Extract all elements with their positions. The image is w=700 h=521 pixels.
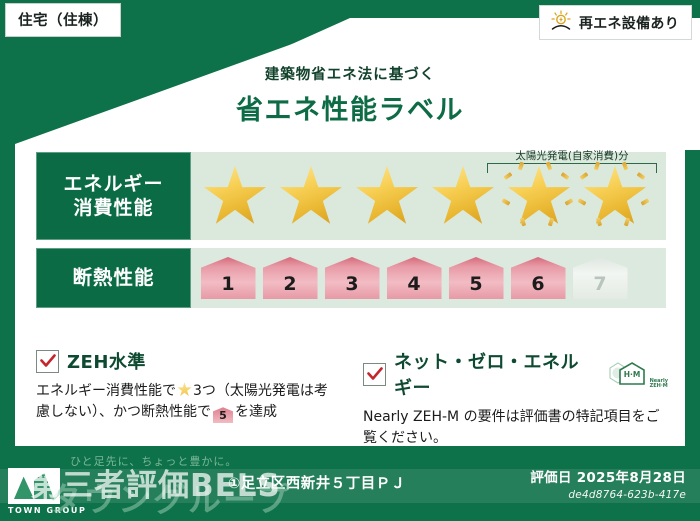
certification-checks: ZEH水準 エネルギー消費性能で3つ（太陽光発電は考慮しない）、かつ断熱性能で5… [36, 348, 668, 450]
insulation-level-inline-badge: 5 [213, 407, 233, 423]
star-icon [354, 165, 420, 228]
star-icon [177, 382, 192, 397]
logo-sub-line2: ZEH·M [650, 383, 668, 389]
insulation-level-badge: 1 [201, 257, 256, 299]
insulation-level-value: 6 [531, 273, 544, 295]
check-mark-icon [36, 350, 59, 373]
house-slot: 5 [445, 257, 507, 299]
house-slot: 2 [259, 257, 321, 299]
star-icon [506, 165, 572, 228]
net-zero-energy-body: Nearly ZEH-M の要件は評価書の特記項目をご覧ください。 [363, 407, 668, 450]
insulation-level-inline-value: 5 [219, 409, 227, 422]
energy-performance-label-line2: 消費性能 [73, 196, 153, 220]
zeh-standard-check: ZEH水準 エネルギー消費性能で3つ（太陽光発電は考慮しない）、かつ断熱性能で5… [36, 348, 341, 450]
label-title-block: 建築物省エネ法に基づく 省エネ性能ラベル [0, 63, 700, 127]
energy-performance-row: エネルギー 消費性能 太陽光発電(自家消費)分 [36, 152, 666, 240]
zeh-standard-body: エネルギー消費性能で3つ（太陽光発電は考慮しない）、かつ断熱性能で5を達成 [36, 381, 341, 424]
insulation-level-value: 7 [593, 273, 606, 295]
nearly-zeh-m-logo-sublabel: Nearly ZEH·M [650, 379, 668, 390]
title-main: 省エネ性能ラベル [0, 88, 700, 127]
star-slot [273, 160, 349, 232]
star-slot [197, 160, 273, 232]
renewable-energy-badge-label: 再エネ設備あり [579, 13, 679, 33]
net-zero-energy-check: ネット・ゼロ・エネルギー H·M Nearly ZEH·M [363, 348, 668, 450]
insulation-performance-label: 断熱性能 [36, 248, 191, 308]
town-group-logo-text: TOWN GROUP [8, 506, 86, 515]
insulation-level-badge: 4 [387, 257, 442, 299]
house-slot: 6 [507, 257, 569, 299]
star-icon [202, 165, 268, 228]
document-id: de4d8764-623b-417e [530, 489, 686, 501]
solar-sun-icon [550, 10, 572, 36]
town-group-logo: TOWN GROUP [8, 468, 86, 515]
star-icon [278, 165, 344, 228]
zeh-body-part1: エネルギー消費性能で [36, 383, 176, 399]
title-subtitle: 建築物省エネ法に基づく [0, 63, 700, 84]
footer-meta: 評価日 2025年8月28日 de4d8764-623b-417e [530, 466, 686, 501]
house-slot: 1 [197, 257, 259, 299]
insulation-level-badge: 2 [263, 257, 318, 299]
net-zero-energy-title: ネット・ゼロ・エネルギー [394, 348, 594, 400]
star-icon [582, 165, 648, 228]
building-type-tab[interactable]: 住宅（住棟） [5, 3, 121, 37]
star-icon [430, 165, 496, 228]
house-slot: 3 [321, 257, 383, 299]
insulation-level-value: 3 [345, 273, 358, 295]
insulation-level-badges: 1 2 3 4 5 6 7 [191, 248, 666, 308]
zeh-body-part3: を達成 [235, 404, 277, 420]
insulation-level-value: 1 [221, 273, 234, 295]
net-zero-energy-header: ネット・ゼロ・エネルギー H·M Nearly ZEH·M [363, 348, 668, 400]
star-slot-solar [577, 160, 653, 232]
house-slot: 7 [569, 257, 631, 299]
insulation-level-value: 5 [469, 273, 482, 295]
check-mark-icon [363, 363, 386, 386]
energy-performance-label-line1: エネルギー [63, 172, 163, 196]
renewable-energy-badge: 再エネ設備あり [539, 5, 692, 40]
star-slot [425, 160, 501, 232]
insulation-level-badge: 3 [325, 257, 380, 299]
energy-performance-label: エネルギー 消費性能 [36, 152, 191, 240]
star-slot [349, 160, 425, 232]
insulation-level-badge: 5 [449, 257, 504, 299]
label-root: 住宅（住棟） 再エネ設備あり 建築物省エネ法に基づく 省エネ性能ラベル [0, 0, 700, 521]
property-address: ①足立区西新井５丁目ＰＪ [228, 472, 406, 493]
town-group-mark-icon [8, 468, 60, 504]
zeh-standard-title: ZEH水準 [67, 348, 146, 374]
insulation-performance-row: 断熱性能 1 2 3 4 5 6 7 [36, 248, 666, 308]
evaluation-date: 評価日 2025年8月28日 [530, 466, 686, 486]
nearly-zeh-m-logo-icon: H·M Nearly ZEH·M [608, 359, 668, 389]
energy-performance-stars: 太陽光発電(自家消費)分 [191, 152, 666, 240]
rating-rows: エネルギー 消費性能 太陽光発電(自家消費)分 [36, 152, 666, 316]
svg-text:H·M: H·M [623, 370, 640, 379]
insulation-level-badge-inactive: 7 [573, 257, 628, 299]
insulation-performance-label-text: 断熱性能 [72, 266, 154, 291]
zeh-standard-header: ZEH水準 [36, 348, 341, 374]
insulation-level-badge: 6 [511, 257, 566, 299]
footer-bar: ①足立区西新井５丁目ＰＪ 評価日 2025年8月28日 de4d8764-623… [0, 446, 700, 521]
insulation-level-value: 4 [407, 273, 420, 295]
house-slot: 4 [383, 257, 445, 299]
star-slot-solar [501, 160, 577, 232]
building-type-tab-label: 住宅（住棟） [18, 13, 108, 29]
insulation-level-value: 2 [283, 273, 296, 295]
